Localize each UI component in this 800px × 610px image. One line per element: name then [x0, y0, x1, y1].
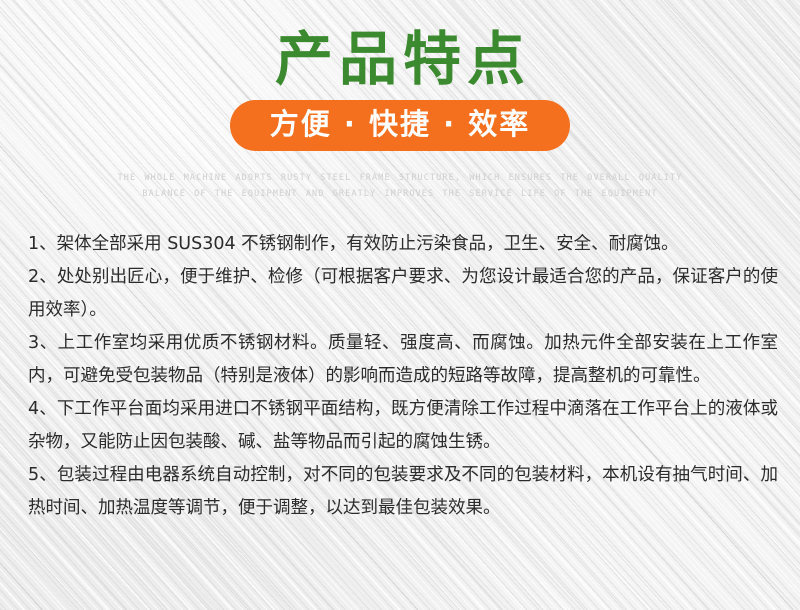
- page-content: 产品特点 方便 · 快捷 · 效率 THE WHOLE MACHINE ADOP…: [0, 0, 800, 610]
- page-header: 产品特点 方便 · 快捷 · 效率 THE WHOLE MACHINE ADOP…: [0, 0, 800, 203]
- list-item: 5、包装过程由电器系统自动控制，对不同的包装要求及不同的包装材料，本机设有抽气时…: [28, 459, 778, 525]
- list-item: 4、下工作平台面均采用进口不锈钢平面结构，既方便清除工作过程中滴落在工作平台上的…: [28, 393, 778, 459]
- page-title: 产品特点: [0, 30, 800, 88]
- product-features-page: 产品特点 方便 · 快捷 · 效率 THE WHOLE MACHINE ADOP…: [0, 0, 800, 610]
- list-item: 2、处处别出匠心，便于维护、检修（可根据客户要求、为您设计最适合您的产品，保证客…: [28, 261, 778, 327]
- list-item: 1、架体全部采用 SUS304 不锈钢制作，有效防止污染食品，卫生、安全、耐腐蚀…: [28, 228, 778, 261]
- subtitle-line-2: BALANCE OF THE EQUIPMENT AND GREATLY IMP…: [100, 187, 700, 203]
- subtitle-english: THE WHOLE MACHINE ADOPTS RUSTY STEEL FRA…: [100, 171, 700, 202]
- subtitle-line-1: THE WHOLE MACHINE ADOPTS RUSTY STEEL FRA…: [100, 171, 700, 187]
- tagline-badge-wrapper: 方便 · 快捷 · 效率: [0, 100, 800, 151]
- tagline-badge: 方便 · 快捷 · 效率: [230, 100, 570, 151]
- feature-list: 1、架体全部采用 SUS304 不锈钢制作，有效防止污染食品，卫生、安全、耐腐蚀…: [28, 228, 778, 525]
- list-item: 3、上工作室均采用优质不锈钢材料。质量轻、强度高、而腐蚀。加热元件全部安装在上工…: [28, 327, 778, 393]
